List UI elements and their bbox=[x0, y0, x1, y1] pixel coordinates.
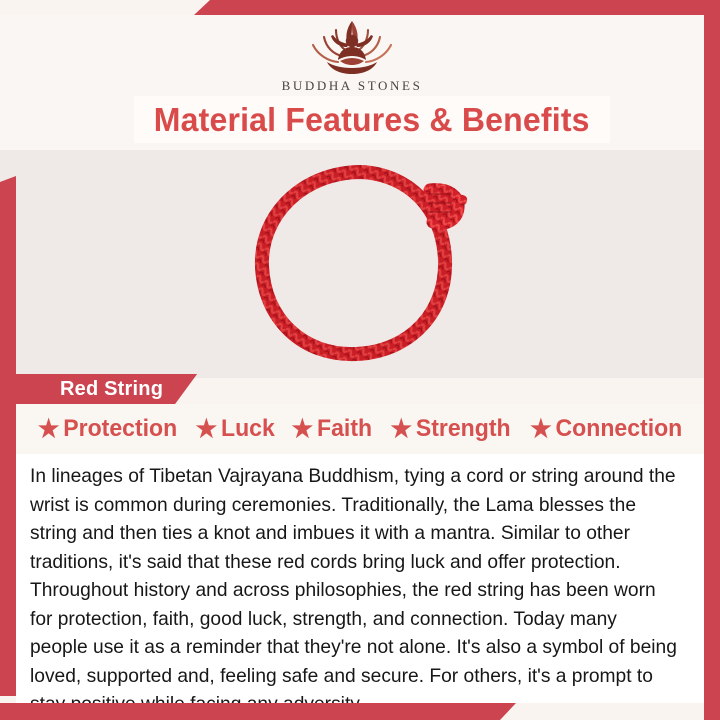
product-name-ribbon: Red String bbox=[16, 374, 197, 404]
product-image bbox=[0, 152, 704, 378]
star-icon: ★ bbox=[390, 417, 412, 442]
frame-left-bar bbox=[0, 176, 16, 696]
frame-top-bar bbox=[194, 0, 720, 15]
headline-band: Material Features & Benefits bbox=[134, 96, 610, 143]
benefit-protection: ★ Protection bbox=[37, 415, 176, 443]
benefit-label: Connection bbox=[556, 415, 683, 443]
description-text: In lineages of Tibetan Vajrayana Buddhis… bbox=[30, 462, 678, 719]
star-icon: ★ bbox=[292, 417, 314, 442]
benefit-label: Protection bbox=[63, 415, 177, 443]
frame-bottom-bar bbox=[0, 703, 516, 720]
benefit-connection: ★ Connection bbox=[530, 415, 682, 443]
brand-name: BUDDHA STONES bbox=[0, 78, 704, 94]
star-icon: ★ bbox=[195, 417, 217, 442]
lotus-meditation-icon bbox=[300, 14, 404, 76]
benefit-label: Luck bbox=[221, 415, 275, 443]
benefit-luck: ★ Luck bbox=[195, 415, 274, 443]
benefit-strength: ★ Strength bbox=[390, 415, 510, 443]
description-band: In lineages of Tibetan Vajrayana Buddhis… bbox=[16, 454, 704, 703]
benefits-list: ★ Protection ★ Luck ★ Faith ★ Strength ★… bbox=[35, 415, 686, 443]
star-icon: ★ bbox=[530, 417, 552, 442]
star-icon: ★ bbox=[37, 417, 59, 442]
frame-right-bar bbox=[704, 15, 720, 720]
infographic-poster: BUDDHA STONES Material Features & Benefi… bbox=[0, 0, 720, 720]
benefit-faith: ★ Faith bbox=[292, 415, 372, 443]
benefit-label: Faith bbox=[317, 415, 372, 443]
brand-block: BUDDHA STONES bbox=[0, 14, 704, 94]
benefit-label: Strength bbox=[416, 415, 511, 443]
benefits-band: ★ Protection ★ Luck ★ Faith ★ Strength ★… bbox=[16, 404, 704, 454]
page-title: Material Features & Benefits bbox=[154, 101, 590, 139]
